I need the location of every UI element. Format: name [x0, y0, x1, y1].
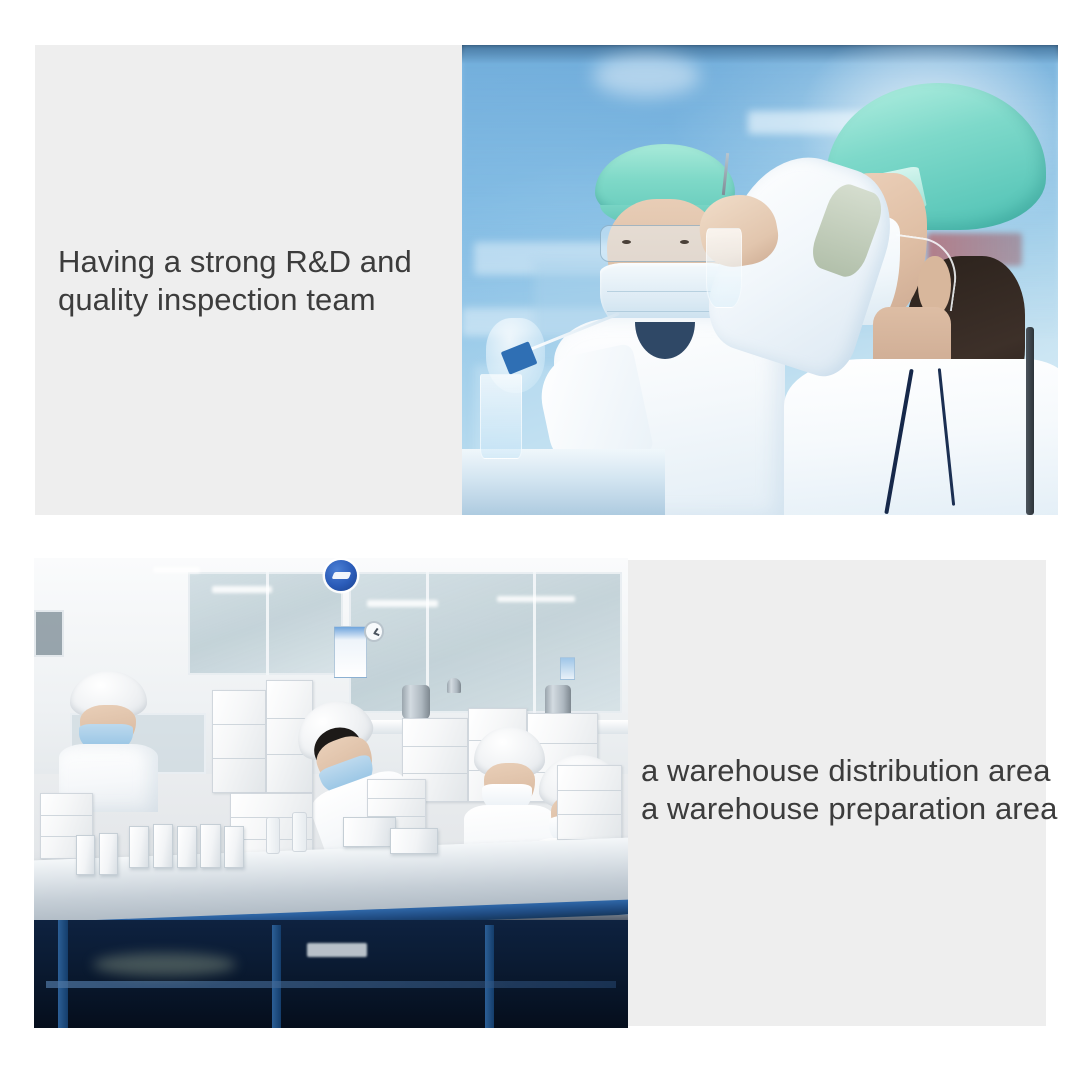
interior-window	[349, 572, 622, 713]
equipment-stand	[1026, 327, 1034, 515]
product-carton	[76, 835, 95, 875]
top-caption: Having a strong R&D and quality inspecti…	[58, 243, 458, 319]
glass-beaker	[480, 374, 522, 459]
bottom-caption-line-2: a warehouse preparation area	[641, 790, 1041, 828]
lab-bench	[462, 449, 665, 515]
stainless-vessel	[447, 678, 461, 693]
ceiling-light	[497, 596, 574, 603]
product-tube	[292, 812, 306, 852]
product-carton	[390, 828, 438, 854]
product-carton	[177, 826, 197, 868]
product-carton	[224, 826, 244, 868]
top-caption-line-1: Having a strong R&D and	[58, 243, 458, 281]
floor-reflection	[93, 953, 236, 977]
product-carton	[99, 833, 118, 875]
product-carton	[129, 826, 149, 868]
wall-placard	[560, 657, 575, 681]
lower-shelf-item	[307, 943, 366, 957]
table-leg	[485, 925, 494, 1028]
product-carton	[343, 817, 396, 848]
carton-stack	[212, 690, 265, 793]
carton-stack	[557, 765, 622, 840]
ceiling-light-glow	[593, 54, 700, 96]
wall-clock-icon	[364, 621, 384, 642]
sample-vial	[706, 228, 742, 308]
table-leg	[58, 920, 68, 1028]
poster-root: Having a strong R&D and quality inspecti…	[0, 0, 1080, 1080]
wall-notice-board	[334, 626, 367, 678]
table-rail	[46, 981, 616, 988]
lab-coat	[784, 359, 1058, 515]
ceiling-light	[212, 586, 271, 593]
product-carton	[153, 824, 173, 869]
warehouse-worker	[70, 671, 147, 812]
lab-quality-inspection-photo	[462, 45, 1058, 515]
window-mullion	[533, 572, 536, 713]
bottom-caption: a warehouse distribution area a warehous…	[641, 752, 1041, 828]
top-caption-line-2: quality inspection team	[58, 281, 458, 319]
interior-window	[34, 610, 64, 657]
table-leg	[272, 925, 281, 1028]
stainless-vessel	[402, 685, 429, 720]
bottom-caption-line-1: a warehouse distribution area	[641, 752, 1041, 790]
warehouse-packing-photo	[34, 558, 628, 1028]
ceiling-light	[153, 567, 201, 573]
product-tube	[266, 817, 280, 855]
blue-circular-sign-icon	[325, 560, 357, 591]
ceiling-light	[367, 600, 438, 607]
product-carton	[200, 824, 220, 869]
